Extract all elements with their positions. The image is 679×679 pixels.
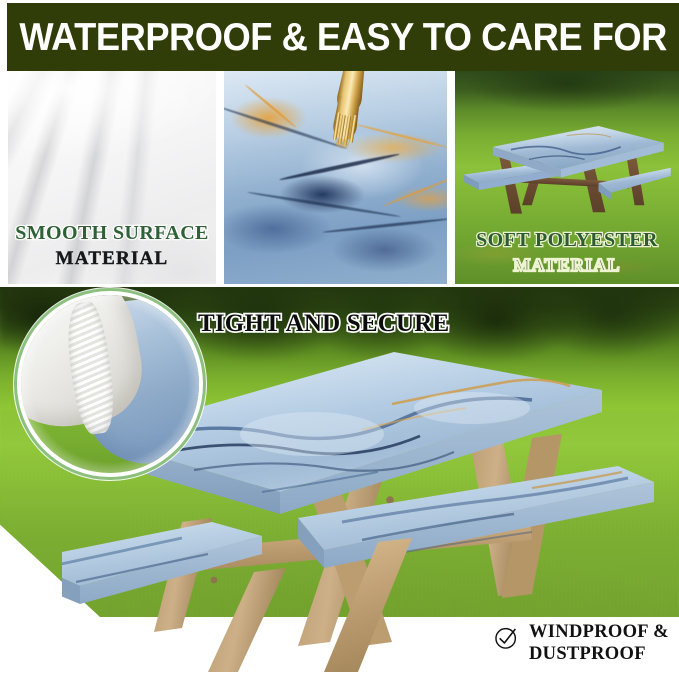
panel-marble-fork (224, 71, 447, 284)
header-banner: WATERPROOF & EASY TO CARE FOR (7, 3, 679, 71)
marble-vein (322, 218, 447, 235)
marble-vein (247, 191, 402, 218)
badge-text-block: WINDPROOF & DUSTPROOF (529, 622, 669, 666)
badge-line-1: WINDPROOF & (529, 622, 669, 644)
windproof-dustproof-badge: WINDPROOF & DUSTPROOF (493, 622, 669, 666)
panel-smooth-surface: SMOOTH SURFACE MATERIAL (8, 71, 216, 284)
hero-headline: TIGHT AND SECURE (198, 310, 449, 338)
page-title: WATERPROOF & EASY TO CARE FOR (19, 18, 666, 57)
picnic-table-thumbnail (459, 101, 674, 233)
marble-gold-vein (383, 175, 447, 207)
inset-vignette (21, 295, 199, 473)
gold-fork-icon (313, 71, 380, 173)
inset-image (21, 295, 199, 473)
product-feature-poster: WATERPROOF & EASY TO CARE FOR SMOOTH SUR… (0, 0, 679, 679)
elastic-corner-inset (14, 288, 206, 480)
badge-line-2: DUSTPROOF (529, 644, 669, 666)
feature-panel-row: SMOOTH SURFACE MATERIAL (0, 71, 679, 284)
panel-soft-polyester: SOFT POLYESTER MATERIAL (455, 71, 679, 284)
check-circle-icon (493, 624, 520, 651)
white-fabric-image (8, 71, 216, 284)
